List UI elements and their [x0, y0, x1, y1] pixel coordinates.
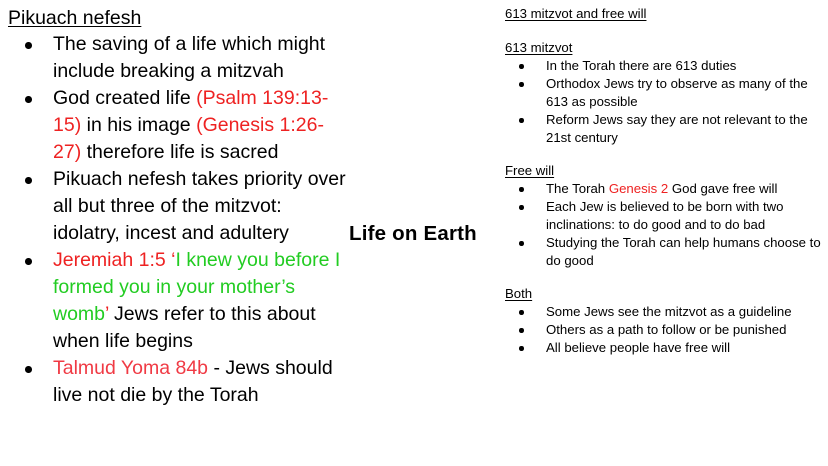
right-sections: 613 mitzvotIn the Torah there are 613 du… [505, 39, 825, 357]
text-run: in his image [81, 114, 196, 136]
right-bullet-item: All believe people have free will [505, 339, 825, 357]
spacer [505, 270, 825, 285]
text-run: therefore life is sacred [81, 141, 278, 163]
right-section-heading: 613 mitzvot [505, 39, 825, 57]
left-bullet-item: Talmud Yoma 84b - Jews should live not d… [8, 355, 348, 409]
text-run: Jeremiah 1:5 [53, 249, 171, 271]
left-bullet-item: Jeremiah 1:5 ‘I knew you before I formed… [8, 247, 348, 355]
text-run: Some Jews see the mitzvot as a guideline [546, 304, 792, 319]
right-bullet-item: Orthodox Jews try to observe as many of … [505, 75, 825, 111]
right-section-heading: Free will [505, 162, 825, 180]
text-run: The saving of a life which might include… [53, 33, 325, 82]
left-column-heading: Pikuach nefesh [8, 6, 348, 31]
right-bullet-item: Reform Jews say they are not relevant to… [505, 111, 825, 147]
text-run: Studying the Torah can help humans choos… [546, 235, 821, 268]
left-bullet-item: Pikuach nefesh takes priority over all b… [8, 166, 348, 247]
spacer [505, 23, 825, 39]
text-run: Pikuach nefesh takes priority over all b… [53, 168, 346, 244]
left-column: Pikuach nefesh The saving of a life whic… [8, 6, 348, 409]
right-bullet-item: Others as a path to follow or be punishe… [505, 321, 825, 339]
right-bullet-item: In the Torah there are 613 duties [505, 57, 825, 75]
right-bullet-item: The Torah Genesis 2 God gave free will [505, 180, 825, 198]
right-section-heading: Both [505, 285, 825, 303]
right-bullet-list: In the Torah there are 613 dutiesOrthodo… [505, 57, 825, 147]
right-column: 613 mitzvot and free will 613 mitzvotIn … [505, 5, 825, 357]
text-run: In the Torah there are 613 duties [546, 58, 736, 73]
text-run: God created life [53, 87, 196, 109]
text-run: All believe people have free will [546, 340, 730, 355]
right-bullet-list: Some Jews see the mitzvot as a guideline… [505, 303, 825, 357]
text-run: God gave free will [668, 181, 777, 196]
text-run: Each Jew is believed to be born with two… [546, 199, 784, 232]
right-column-title: 613 mitzvot and free will [505, 5, 825, 23]
right-bullet-item: Some Jews see the mitzvot as a guideline [505, 303, 825, 321]
text-run: Talmud Yoma 84b [53, 357, 208, 379]
right-bullet-item: Each Jew is believed to be born with two… [505, 198, 825, 234]
text-run: Genesis 2 [609, 181, 668, 196]
left-bullet-item: The saving of a life which might include… [8, 31, 348, 85]
right-bullet-item: Studying the Torah can help humans choos… [505, 234, 825, 270]
left-bullet-item: God created life (Psalm 139:13-15) in hi… [8, 85, 348, 166]
spacer [505, 147, 825, 162]
text-run: Orthodox Jews try to observe as many of … [546, 76, 808, 109]
text-run: Others as a path to follow or be punishe… [546, 322, 786, 337]
text-run: The Torah [546, 181, 609, 196]
text-run: Reform Jews say they are not relevant to… [546, 112, 808, 145]
right-bullet-list: The Torah Genesis 2 God gave free willEa… [505, 180, 825, 270]
left-bullet-list: The saving of a life which might include… [8, 31, 348, 409]
center-title: Life on Earth [349, 221, 477, 247]
slide-canvas: Pikuach nefesh The saving of a life whic… [0, 0, 828, 466]
